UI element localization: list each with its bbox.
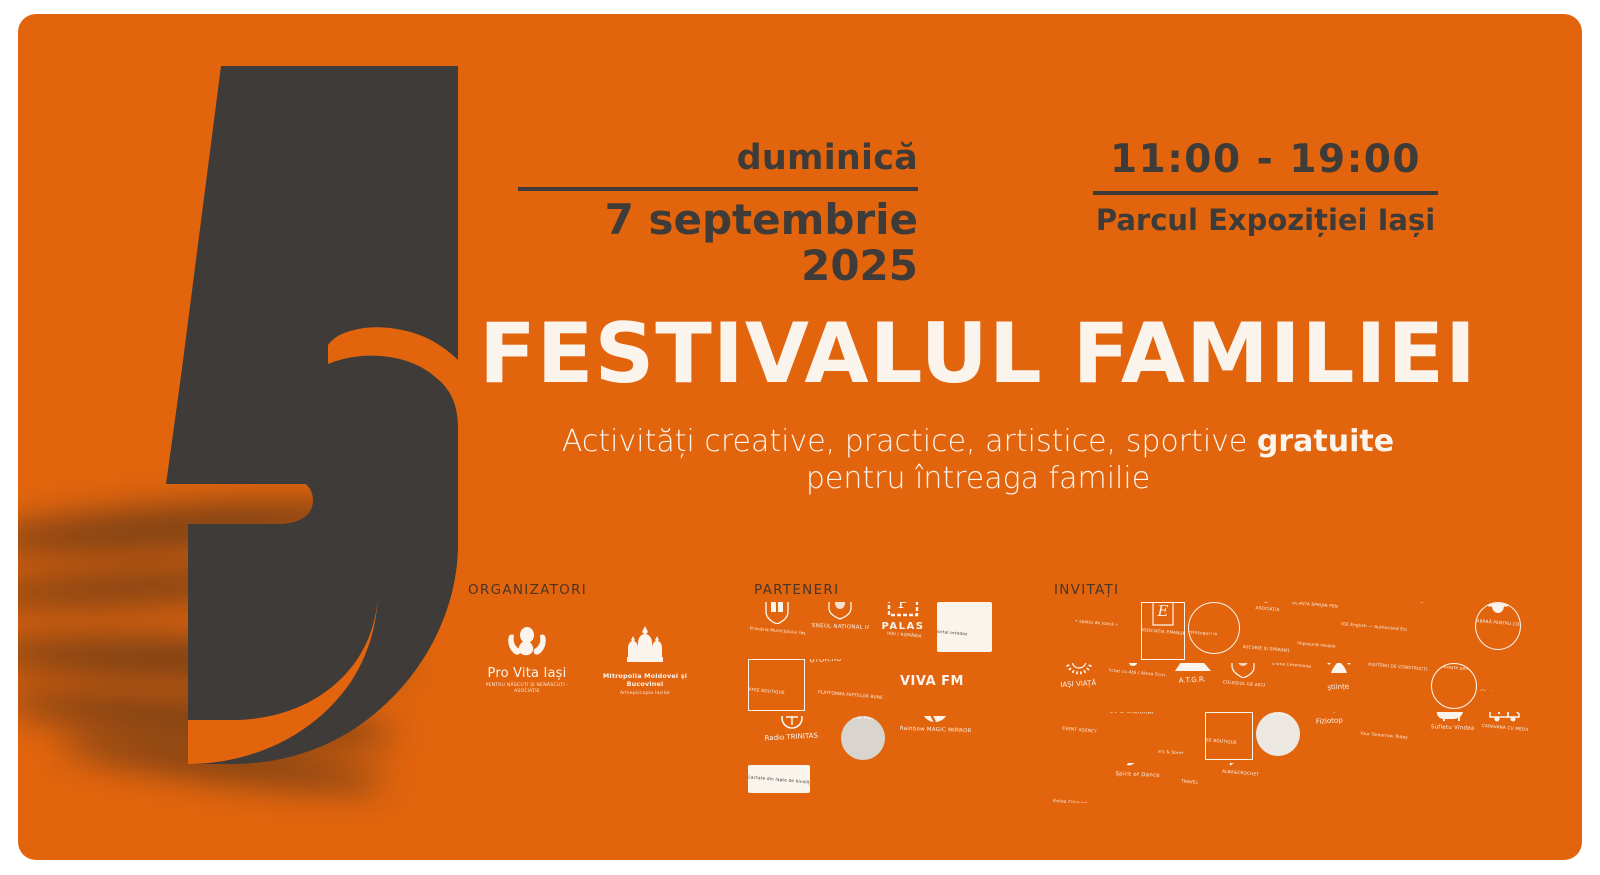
ateneu-crest-icon (824, 605, 856, 624)
guest-name: Pripa & CALIGRAFIE (1107, 712, 1155, 752)
hours-label: 11:00 - 19:00 (1093, 140, 1438, 189)
guest-logo: GRAMABIJUTERII DE CONSTRUCȚII (1366, 663, 1428, 695)
guest-logo: Sufletu Vîndea (1425, 712, 1479, 754)
guest-logo: IAȘI VIAȚĂ (1052, 663, 1106, 699)
guest-logo: METZ CARSLuxury & Sport (1158, 712, 1202, 754)
guest-name: Cătălina Belle (1052, 763, 1110, 803)
partner-logo: ArtesanaLactate din lapte de bivoliță (748, 765, 810, 793)
guest-logo: A.T.G.R. (1168, 663, 1218, 699)
svg-text:E: E (1157, 602, 1169, 620)
guests-section-label: INVITAȚI (1054, 582, 1119, 598)
guest-logo: ASOCIAȚIA SPRIJIN PENTRUîmpreună reușim (1292, 602, 1338, 652)
guests-logo-grid: alandala• spațiu de joacă •EASOCIAȚIA EM… (1052, 602, 1552, 803)
mountain-icon (1173, 663, 1213, 676)
guest-name: Fetița Grădinărește pentru artizanat (1431, 663, 1477, 709)
guest-name: Diana Ceremonia (1268, 663, 1312, 703)
guest-logo: Pictat cu Ață / Alexa Scrieri (1109, 663, 1165, 693)
guest-logo: KattuușaEVENT AGENCY (1052, 712, 1104, 748)
svg-text:P: P (898, 602, 909, 612)
cathedral-icon (623, 649, 667, 668)
guest-name: DiMiKiDS (1410, 602, 1472, 630)
page-title: FESTIVALUL FAMILIEI (418, 312, 1538, 395)
guest-logo: FOLDTRAVEL (1164, 763, 1212, 793)
tree-dots-icon (1324, 664, 1354, 683)
partner-logo: DOXOLOGIA.roportal ortodox (937, 602, 992, 652)
venue-label: Parcul Expoziției Iași (1093, 201, 1438, 237)
partner-logo: FIIDEAJUTOR.ROPLATFORMA FAPTELOR BUNE (810, 659, 888, 703)
shutter-icon (921, 716, 949, 727)
palas-monogram-icon: P (887, 602, 919, 621)
guest-logo: ALBA&CROCHET (1215, 763, 1263, 793)
guest-logo: TABĂRĂ PENTRU COPII (1475, 602, 1521, 650)
guest-logo: e YOUNG ENGINEERSBuild Your Tomorrow Tod… (1360, 712, 1422, 748)
partner-logo: Rainbow MAGIC MIRROR (890, 716, 980, 752)
dancer-icon (1124, 763, 1150, 772)
partner-logo: Primăria Municipiului Iași (748, 602, 806, 654)
guest-subtitle: BIJUTERII DE CONSTRUCȚII (1366, 663, 1428, 695)
guest-logo: Pripa & CALIGRAFIE (1107, 712, 1155, 752)
partner-logo: NOIRCOFFEE BOUTIQUE (748, 659, 805, 711)
guest-logo: CARAVANA CU MEDICI (1482, 712, 1528, 754)
time-block: 11:00 - 19:00 Parcul Expoziției Iași (1093, 140, 1438, 237)
guest-name: magazia Mărărișei (1256, 712, 1300, 756)
weekday-label: duminică (518, 140, 918, 185)
guest-logo: magazia Mărărișei (1256, 712, 1300, 756)
partner-logo: magazia Mărărișei (841, 716, 885, 760)
partner-logo: Radio TRINITAS (748, 716, 836, 760)
poster-canvas: duminică 7 septembrie 2025 11:00 - 19:00… (18, 14, 1582, 860)
organizer-logo: Pro Vita IașiPENTRU NĂSCUȚI ȘI NENĂSCUȚI… (473, 624, 581, 696)
partner-logo: PPALASIAȘI / ROMÂNIA (874, 602, 932, 654)
guest-logo: alandala• spațiu de joacă • (1052, 602, 1138, 636)
guest-logo: DiMiKiDS (1410, 602, 1472, 630)
crest-icon (1230, 663, 1256, 682)
trees-icon (1434, 712, 1470, 725)
guest-logo: Twinkle StarCAMBRIDGE English — Authoris… (1341, 602, 1407, 652)
guest-logo: ASOCIAȚIABUCURIE ȘI SPERANȚĂ (1243, 602, 1289, 654)
arch-monogram-icon: E (1151, 611, 1175, 630)
guest-logo: VERONDAmeșteșuguri în (1188, 602, 1240, 654)
guest-logo: Diana Ceremonia (1268, 663, 1312, 703)
subtitle-emphasis: gratuite (1257, 424, 1394, 459)
partner-name: magazia Mărărișei (841, 716, 885, 760)
partner-logo: ATENEUL NAȚIONAL IAȘI (811, 602, 869, 654)
cross-circle-icon (781, 716, 803, 733)
guest-logo: științe (1315, 663, 1363, 707)
sun-ring-icon (1064, 663, 1094, 680)
guest-logo: NOIRCOFFEE BOUTIQUE (1205, 712, 1253, 760)
bee-badge-icon (1485, 602, 1511, 621)
date-block: duminică 7 septembrie 2025 (518, 140, 918, 289)
guest-logo: Fetița Grădinărește pentru artizanat (1431, 663, 1477, 709)
hands-baby-icon (504, 643, 550, 662)
organizers-logo-grid: Pro Vita IașiPENTRU NĂSCUȚI ȘI NENĂSCUȚI… (473, 624, 723, 696)
guest-name: METZ CARS (1158, 712, 1202, 754)
partners-section-label: PARTENERI (754, 582, 839, 598)
organizers-section-label: ORGANIZATORI (468, 582, 587, 598)
organizer-logo: Mitropolia Moldovei și BucovineiArhiepis… (591, 624, 699, 696)
guest-logo: Spirit of Dance (1113, 763, 1161, 799)
organizer-subtitle: PENTRU NĂSCUȚI ȘI NENĂSCUȚI - ASOCIAȚIE (473, 683, 581, 694)
subtitle-line2-text: pentru întreaga familie (806, 461, 1150, 496)
partner-logo: VIVA FM (893, 659, 971, 703)
partner-name: VIVA FM (900, 674, 964, 689)
organizer-subtitle: Arhiepiscopia Iașilor (591, 691, 699, 697)
guest-logo: COLEGIUL DE ARTĂ (1221, 663, 1265, 707)
subtitle-line1-text: Activități creative, practice, artistice… (562, 424, 1257, 459)
partners-logo-grid: Primăria Municipiului IașiATENEUL NAȚION… (748, 602, 1028, 793)
guest-logo: BIBLIOTECA JUDEȚEANĂGh. Asachi IAȘI (1480, 663, 1542, 691)
guest-logo: Fiziotop (1303, 712, 1357, 736)
city-crest-icon (760, 609, 794, 628)
guest-logo: Cătălina BellePsiholog Clinician (1052, 763, 1110, 803)
organizer-name: Mitropolia Moldovei și Bucovinei (591, 672, 699, 689)
guest-logo: EASOCIAȚIA EMANUEL (1141, 602, 1185, 660)
subtitle: Activități creative, practice, artistice… (398, 424, 1558, 497)
full-date-label: 7 septembrie 2025 (518, 197, 918, 289)
date-rule (518, 187, 918, 191)
time-rule (1093, 191, 1438, 195)
guest-name: BIBLIOTECA JUDEȚEANĂ (1480, 663, 1542, 691)
organizer-name: Pro Vita Iași (473, 666, 581, 681)
